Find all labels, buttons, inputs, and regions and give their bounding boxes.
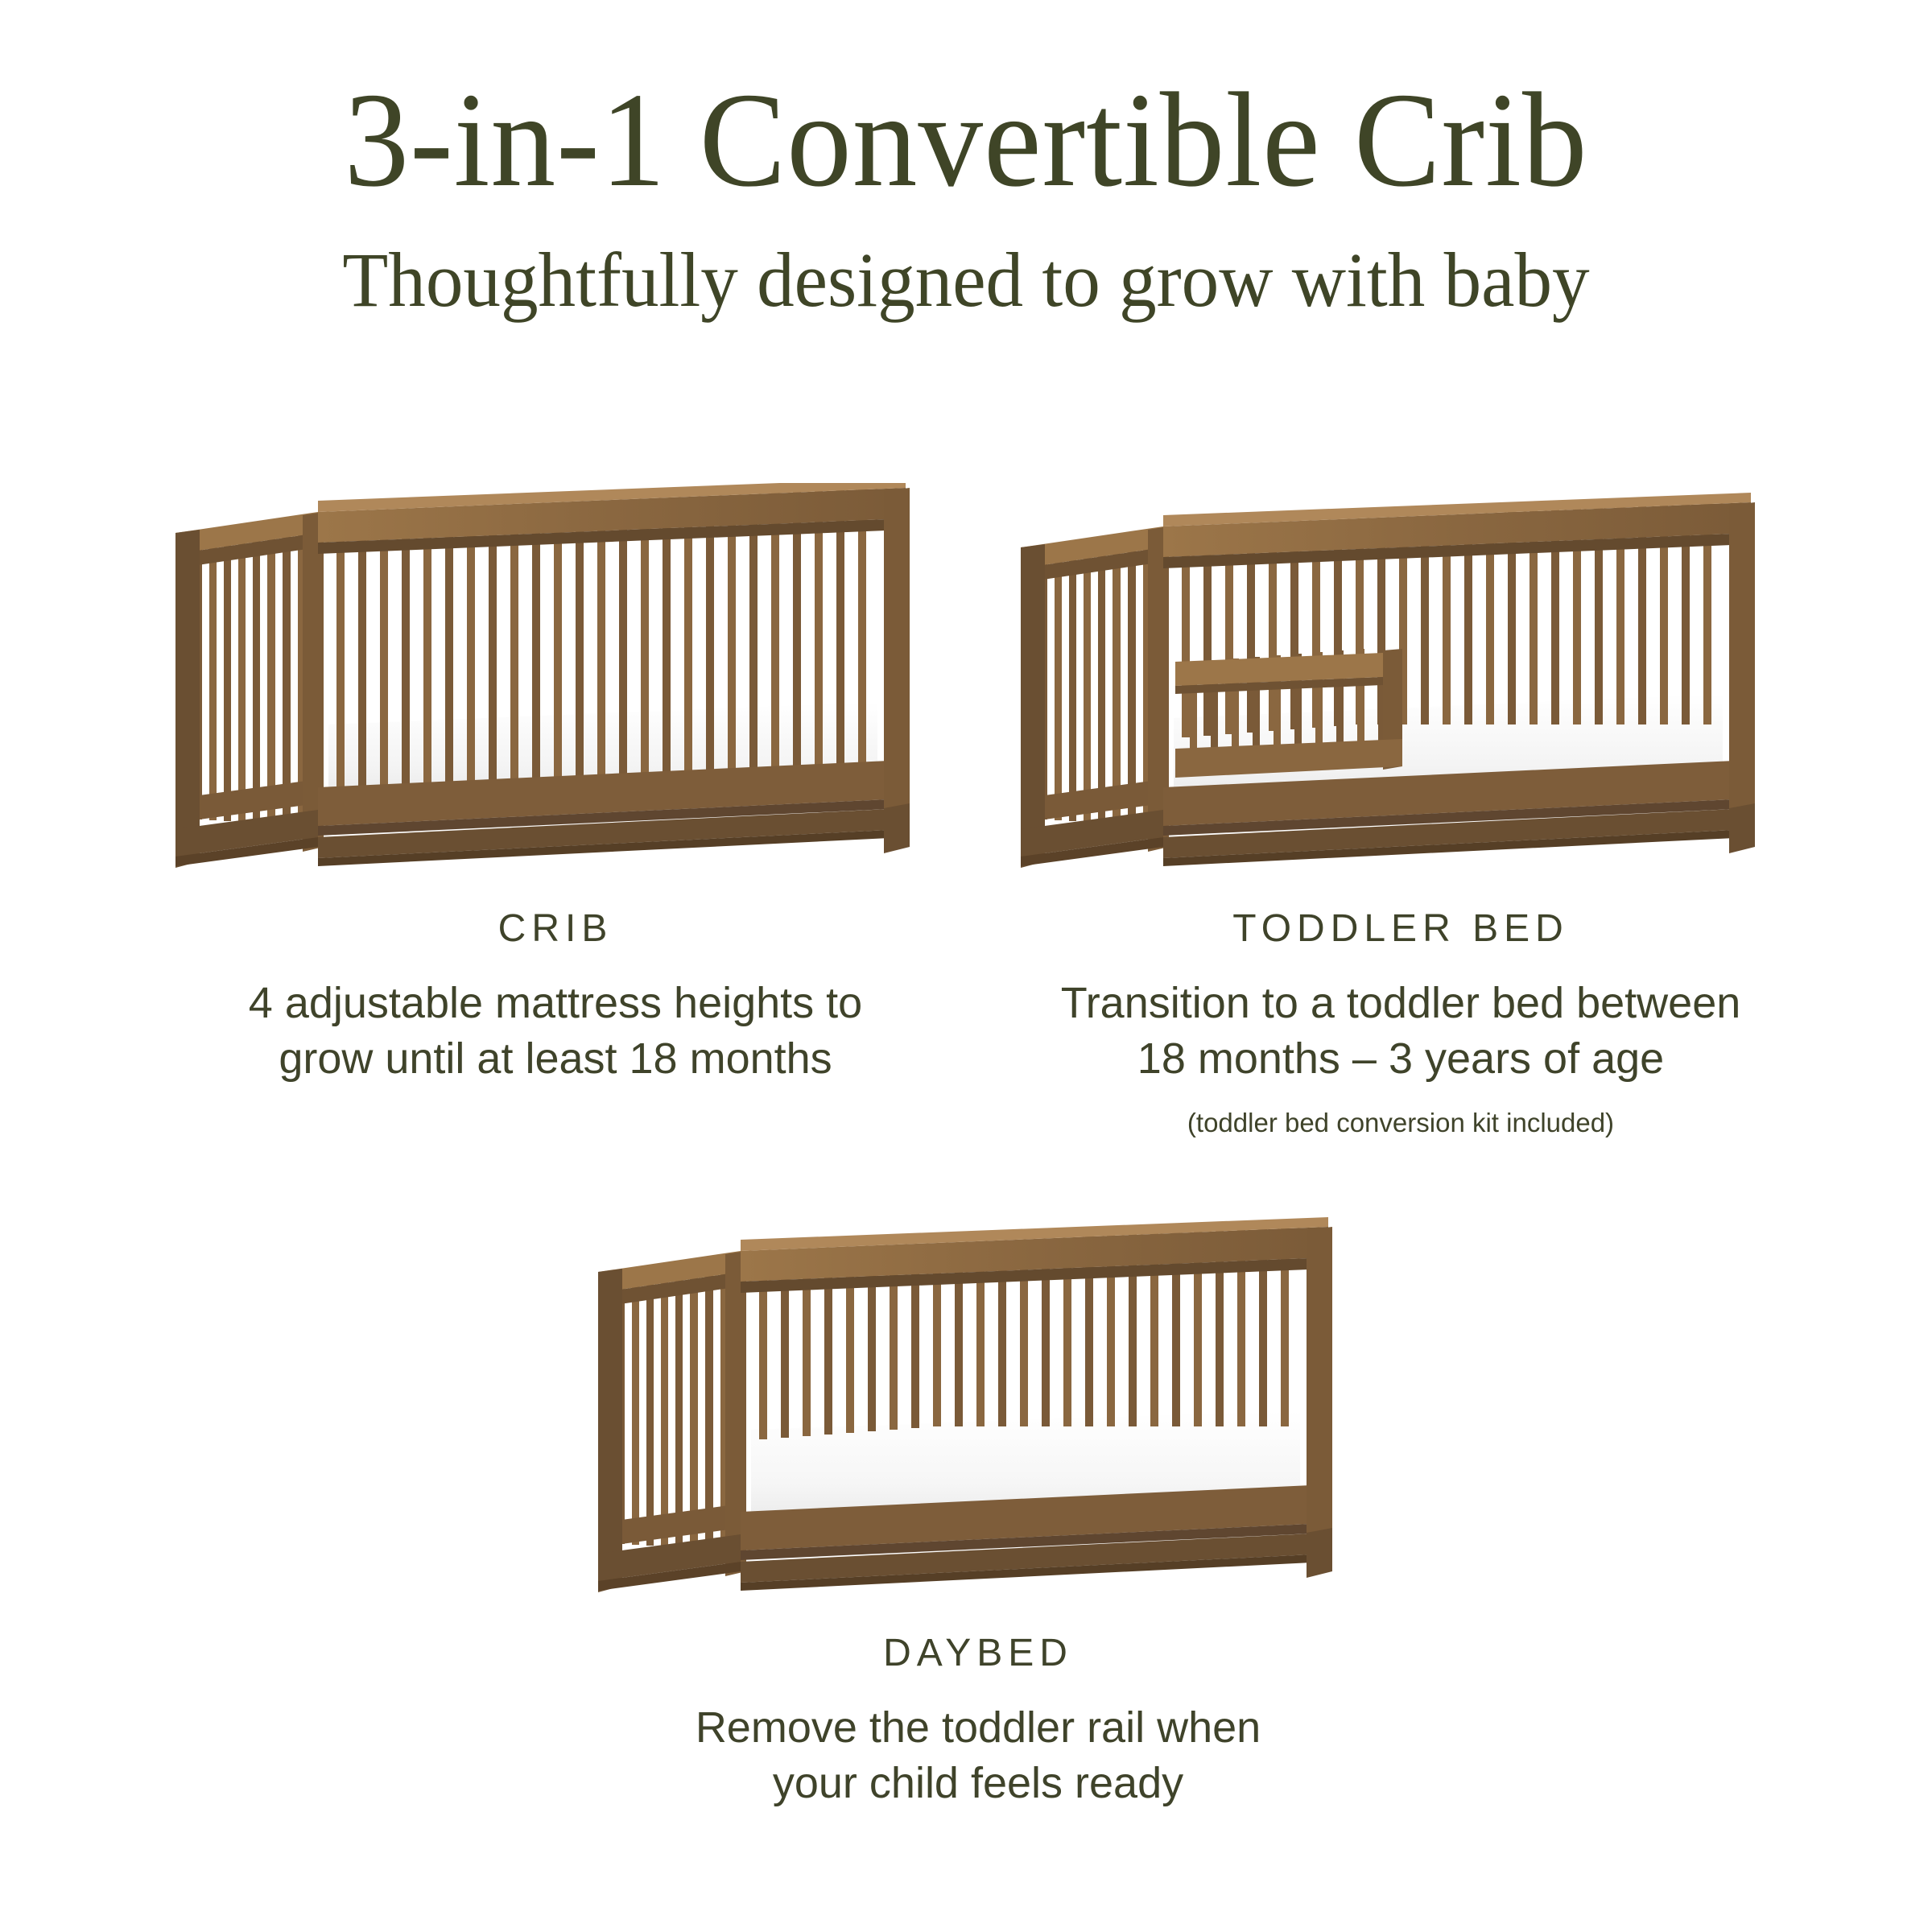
crib-right-foot <box>884 803 910 853</box>
caption-line-1: Remove the toddler rail when <box>576 1700 1381 1756</box>
panel-crib: CRIB 4 adjustable mattress heights to gr… <box>153 483 958 1087</box>
caption-fine-print: (toddler bed conversion kit included) <box>998 1106 1803 1141</box>
crib-side-slats <box>195 523 306 825</box>
daybed-front-left-post <box>598 1269 622 1592</box>
daybed-right-foot <box>1307 1528 1332 1578</box>
daybed-svg <box>576 1207 1381 1618</box>
daybed-right-rear-post <box>1307 1227 1332 1552</box>
caption-label: DAYBED <box>576 1634 1381 1673</box>
crib-front-left-post <box>175 530 200 868</box>
daybed-side-slats <box>617 1262 729 1550</box>
caption-daybed: DAYBED Remove the toddler rail when your… <box>576 1634 1381 1811</box>
toddler-right-foot <box>1729 803 1755 853</box>
page-title: 3-in-1 Convertible Crib <box>39 72 1893 208</box>
caption-line-1: Transition to a toddler bed between <box>998 976 1803 1031</box>
daybed-illustration <box>576 1207 1381 1618</box>
caption-line-1: 4 adjustable mattress heights to <box>153 976 958 1031</box>
toddler-bed-illustration <box>998 483 1803 894</box>
panel-daybed: DAYBED Remove the toddler rail when your… <box>576 1207 1381 1811</box>
crib-illustration <box>153 483 958 894</box>
panel-toddler-bed: TODDLER BED Transition to a toddler bed … <box>998 483 1803 1141</box>
header: 3-in-1 Convertible Crib Thoughtfully des… <box>0 72 1932 319</box>
caption-crib: CRIB 4 adjustable mattress heights to gr… <box>153 910 958 1087</box>
caption-line-2: 18 months – 3 years of age <box>998 1031 1803 1087</box>
caption-label: TODDLER BED <box>998 910 1803 948</box>
toddler-bed-svg <box>998 483 1803 894</box>
caption-label: CRIB <box>153 910 958 948</box>
toddler-front-left-post <box>1021 544 1045 868</box>
toddler-side-slats <box>1040 538 1151 825</box>
infographic-page: 3-in-1 Convertible Crib Thoughtfully des… <box>0 0 1932 1932</box>
caption-line-2: your child feels ready <box>576 1756 1381 1811</box>
toddler-right-rear-post <box>1729 502 1755 828</box>
crib-right-rear-post <box>884 488 910 828</box>
crib-svg <box>153 483 958 894</box>
caption-toddler-bed: TODDLER BED Transition to a toddler bed … <box>998 910 1803 1141</box>
page-subtitle: Thoughtfully designed to grow with baby <box>29 242 1903 319</box>
caption-line-2: grow until at least 18 months <box>153 1031 958 1087</box>
